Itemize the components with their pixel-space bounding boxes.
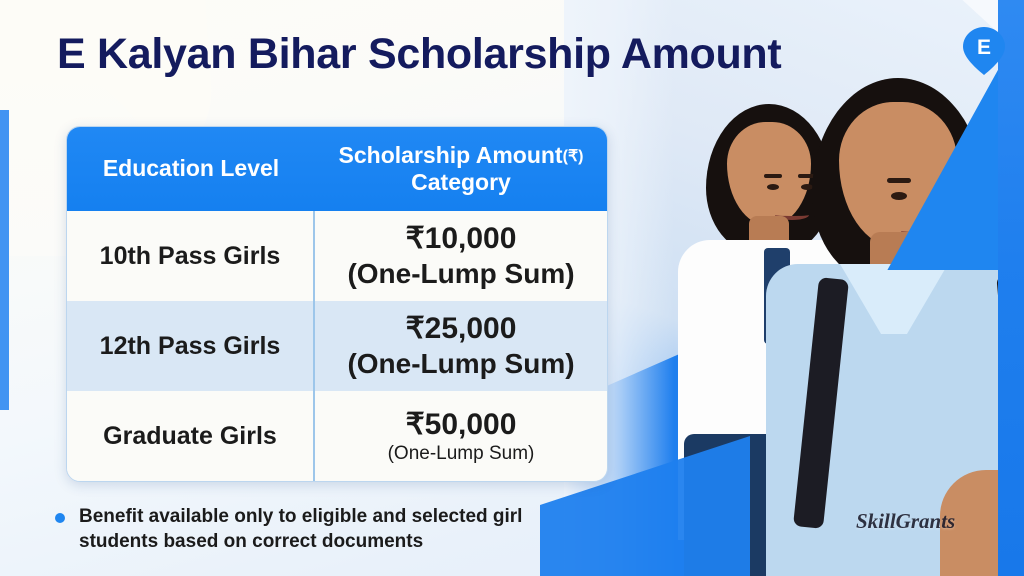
cell-education-level: 12th Pass Girls (67, 301, 315, 391)
column-header-amount-label: Scholarship Amount (339, 142, 563, 168)
cell-scholarship-amount: ₹10,000 (One-Lump Sum) (315, 211, 607, 301)
page-title: E Kalyan Bihar Scholarship Amount (57, 30, 781, 79)
cell-scholarship-amount: ₹50,000 (One-Lump Sum) (315, 391, 607, 481)
watermark: SkillGrants (856, 509, 955, 534)
table-row: 12th Pass Girls ₹25,000 (One-Lump Sum) (67, 301, 607, 391)
footer-note-text: Benefit available only to eligible and s… (79, 504, 595, 554)
amount-value: ₹25,000 (347, 311, 574, 347)
decor-left-blue-bar (0, 110, 9, 410)
eyebrow-left (887, 178, 911, 183)
scholarship-table: Education Level Scholarship Amount(₹) Ca… (66, 126, 608, 482)
amount-value: ₹10,000 (347, 221, 574, 257)
amount-note: (One-Lump Sum) (347, 257, 574, 291)
amount-note: (One-Lump Sum) (347, 347, 574, 381)
column-header-category-label: Category (411, 169, 511, 195)
cell-education-level: Graduate Girls (67, 391, 315, 481)
bullet-dot-icon (55, 513, 65, 523)
eye-left (891, 192, 907, 200)
eyebrow-left (764, 174, 782, 178)
column-header-education-level: Education Level (67, 127, 315, 211)
decor-right-blue-edge (998, 0, 1024, 576)
table-row: Graduate Girls ₹50,000 (One-Lump Sum) (67, 391, 607, 481)
amount-note: (One-Lump Sum) (388, 443, 535, 466)
cell-education-level: 10th Pass Girls (67, 211, 315, 301)
logo-letter: E (977, 36, 991, 59)
infographic-canvas: E E Kalyan Bihar Scholarship Amount Educ… (0, 0, 1024, 576)
eye-left (767, 184, 779, 190)
footer-note: Benefit available only to eligible and s… (55, 504, 595, 554)
column-header-scholarship-amount: Scholarship Amount(₹) Category (315, 127, 607, 211)
amount-value: ₹50,000 (388, 407, 535, 443)
brand-logo: E (962, 26, 1006, 76)
rupee-symbol-note: (₹) (563, 148, 584, 165)
cell-scholarship-amount: ₹25,000 (One-Lump Sum) (315, 301, 607, 391)
table-header-row: Education Level Scholarship Amount(₹) Ca… (67, 127, 607, 211)
table-row: 10th Pass Girls ₹10,000 (One-Lump Sum) (67, 211, 607, 301)
